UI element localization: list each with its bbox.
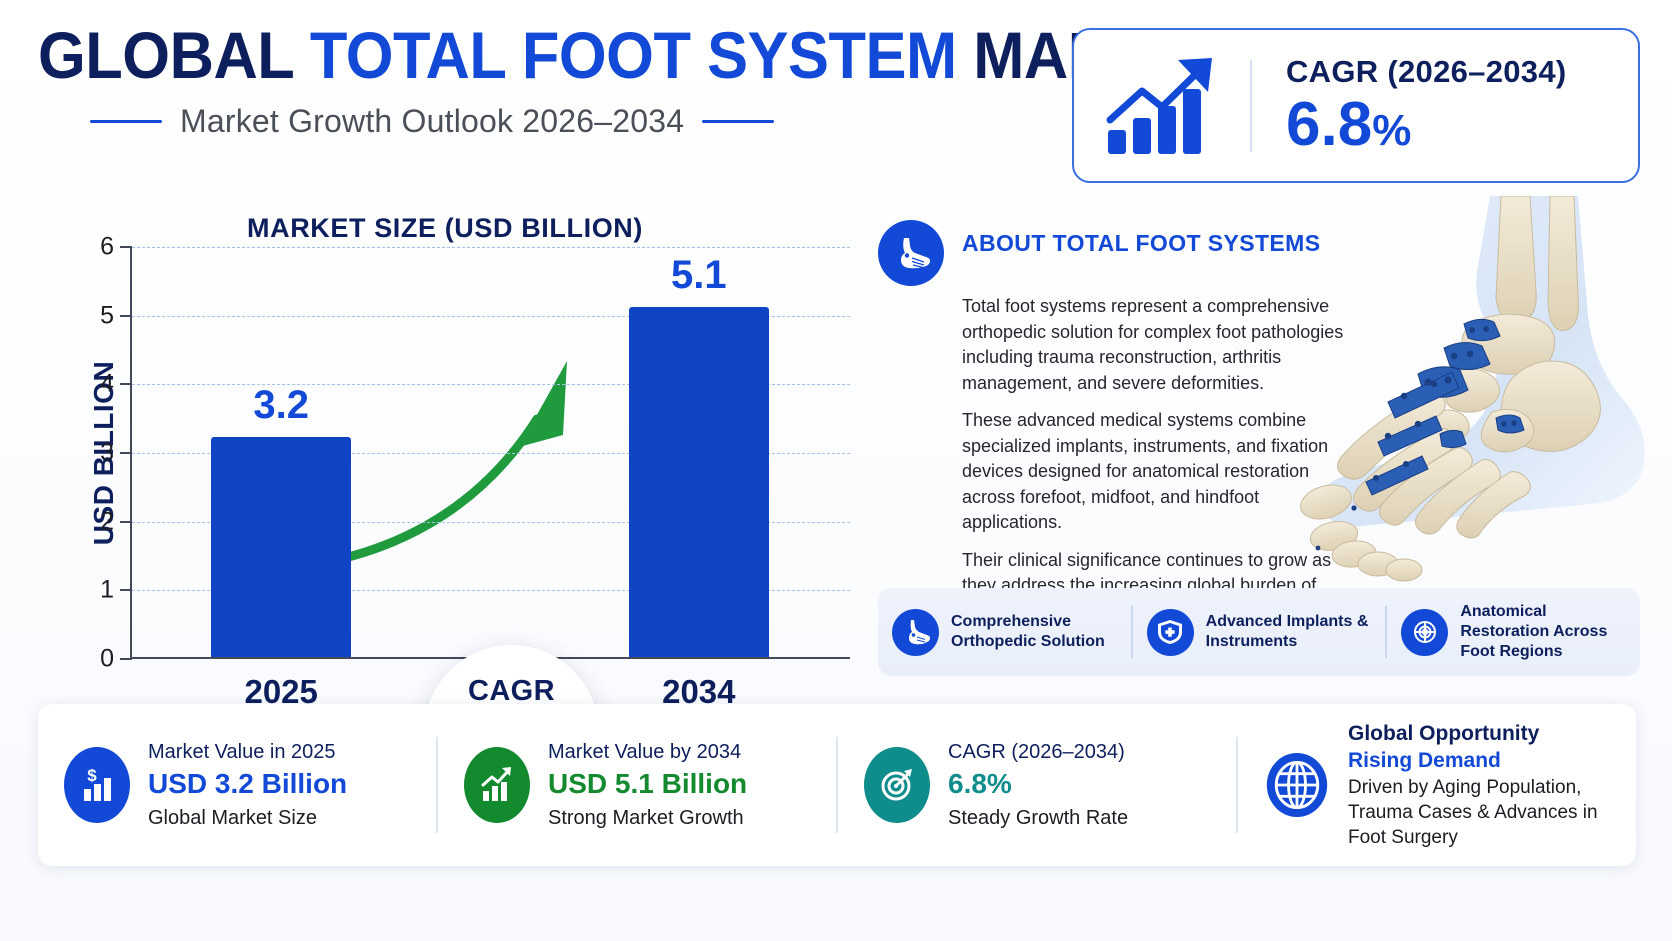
cagr-value: 6.8%: [1286, 92, 1612, 157]
shield-medical-icon: [1147, 609, 1194, 656]
title-part-2: TOTAL FOOT SYSTEM: [310, 18, 973, 92]
subtitle-row: Market Growth Outlook 2026–2034: [38, 103, 1058, 140]
stat-item-2: Market Value by 2034 USD 5.1 Billion Str…: [438, 739, 836, 830]
stat-text-1: Market Value in 2025 USD 3.2 Billion Glo…: [148, 739, 347, 830]
cagr-badge: CAGR (2026–2034) 6.8%: [1072, 28, 1640, 183]
foot-anatomy-icon: [892, 609, 939, 656]
stat-value-2: USD 5.1 Billion: [548, 766, 747, 802]
cagr-callout-label: CAGR: [468, 675, 555, 708]
page-title: GLOBAL TOTAL FOOT SYSTEM MARKET: [38, 22, 987, 89]
stat-sub-3: Steady Growth Rate: [948, 805, 1128, 831]
chart-y-tick: [120, 383, 132, 385]
header: GLOBAL TOTAL FOOT SYSTEM MARKET Market G…: [38, 22, 1058, 140]
subtitle-rule-left: [90, 120, 162, 123]
stat-value-1: USD 3.2 Billion: [148, 766, 347, 802]
chart-bar-value-label: 5.1: [671, 253, 727, 298]
chart-bar-value-label: 3.2: [253, 383, 309, 428]
chart-plot-area: 01234563.220255.12034: [130, 247, 850, 659]
feature-item-3: Anatomical Restoration Across Foot Regio…: [1387, 602, 1640, 662]
cagr-number: 6.8: [1286, 90, 1372, 159]
stat-text-2: Market Value by 2034 USD 5.1 Billion Str…: [548, 739, 747, 830]
cagr-text-block: CAGR (2026–2034) 6.8%: [1272, 54, 1612, 157]
title-part-1: GLOBAL: [38, 18, 310, 92]
feature-label-1: Comprehensive Orthopedic Solution: [951, 612, 1117, 652]
bottom-stats-bar: $ Market Value in 2025 USD 3.2 Billion G…: [38, 704, 1636, 866]
chart-gridline: [132, 247, 850, 248]
growth-chart-icon: [1100, 54, 1230, 158]
growth-bar-chart-icon: [464, 747, 530, 823]
cagr-label: CAGR (2026–2034): [1286, 54, 1612, 90]
stat-text-3: CAGR (2026–2034) 6.8% Steady Growth Rate: [948, 739, 1128, 830]
stat-label-1: Market Value in 2025: [148, 739, 347, 765]
chart-y-tick-label: 2: [82, 507, 114, 536]
chart-y-tick-label: 1: [82, 576, 114, 605]
feature-item-2: Advanced Implants & Instruments: [1133, 609, 1386, 656]
target-crosshair-icon: [1401, 609, 1448, 656]
feature-label-2: Advanced Implants & Instruments: [1206, 612, 1372, 652]
foot-bone-icon: [878, 220, 944, 286]
stat-head-4a: Global Opportunity: [1348, 720, 1610, 747]
stat-label-3: CAGR (2026–2034): [948, 739, 1128, 765]
subtitle-rule-right: [702, 120, 774, 123]
stat-item-3: CAGR (2026–2034) 6.8% Steady Growth Rate: [838, 739, 1236, 830]
chart-y-tick: [120, 246, 132, 248]
dollar-bar-chart-icon: $: [64, 747, 130, 823]
market-size-chart: MARKET SIZE (USD BILLION) USD BILLION 01…: [20, 205, 870, 705]
chart-bar: [629, 307, 769, 657]
chart-y-tick-label: 4: [82, 370, 114, 399]
stat-text-4: Global Opportunity Rising Demand Driven …: [1348, 720, 1610, 850]
cagr-divider: [1250, 60, 1252, 152]
chart-title: MARKET SIZE (USD BILLION): [20, 213, 870, 244]
stat-item-4: Global Opportunity Rising Demand Driven …: [1238, 720, 1636, 850]
chart-y-tick-label: 3: [82, 439, 114, 468]
growth-arrow-annotation: [305, 327, 665, 587]
feature-label-3: Anatomical Restoration Across Foot Regio…: [1460, 602, 1626, 662]
feature-strip: Comprehensive Orthopedic Solution Advanc…: [878, 588, 1640, 676]
svg-text:$: $: [87, 766, 97, 785]
chart-y-tick: [120, 589, 132, 591]
chart-y-tick: [120, 521, 132, 523]
stat-item-1: $ Market Value in 2025 USD 3.2 Billion G…: [38, 739, 436, 830]
stat-value-3: 6.8%: [948, 766, 1128, 802]
stat-sub-2: Strong Market Growth: [548, 805, 747, 831]
globe-icon: [1264, 747, 1330, 823]
chart-y-tick: [120, 658, 132, 660]
chart-y-tick-label: 6: [82, 233, 114, 262]
cagr-percent-sign: %: [1372, 106, 1411, 155]
stat-body-4: Driven by Aging Population, Trauma Cases…: [1348, 775, 1610, 850]
feature-item-1: Comprehensive Orthopedic Solution: [878, 609, 1131, 656]
target-arrow-icon: [864, 747, 930, 823]
foot-skeleton-implants-image: [1258, 196, 1672, 596]
stat-sub-1: Global Market Size: [148, 805, 347, 831]
chart-y-tick-label: 5: [82, 301, 114, 330]
stat-label-2: Market Value by 2034: [548, 739, 747, 765]
chart-y-tick: [120, 452, 132, 454]
page-subtitle: Market Growth Outlook 2026–2034: [180, 103, 684, 140]
stat-head-4b: Rising Demand: [1348, 747, 1610, 774]
chart-bar: [211, 437, 351, 657]
chart-y-tick: [120, 315, 132, 317]
infographic-page: GLOBAL TOTAL FOOT SYSTEM MARKET Market G…: [0, 0, 1672, 941]
chart-y-tick-label: 0: [82, 645, 114, 674]
